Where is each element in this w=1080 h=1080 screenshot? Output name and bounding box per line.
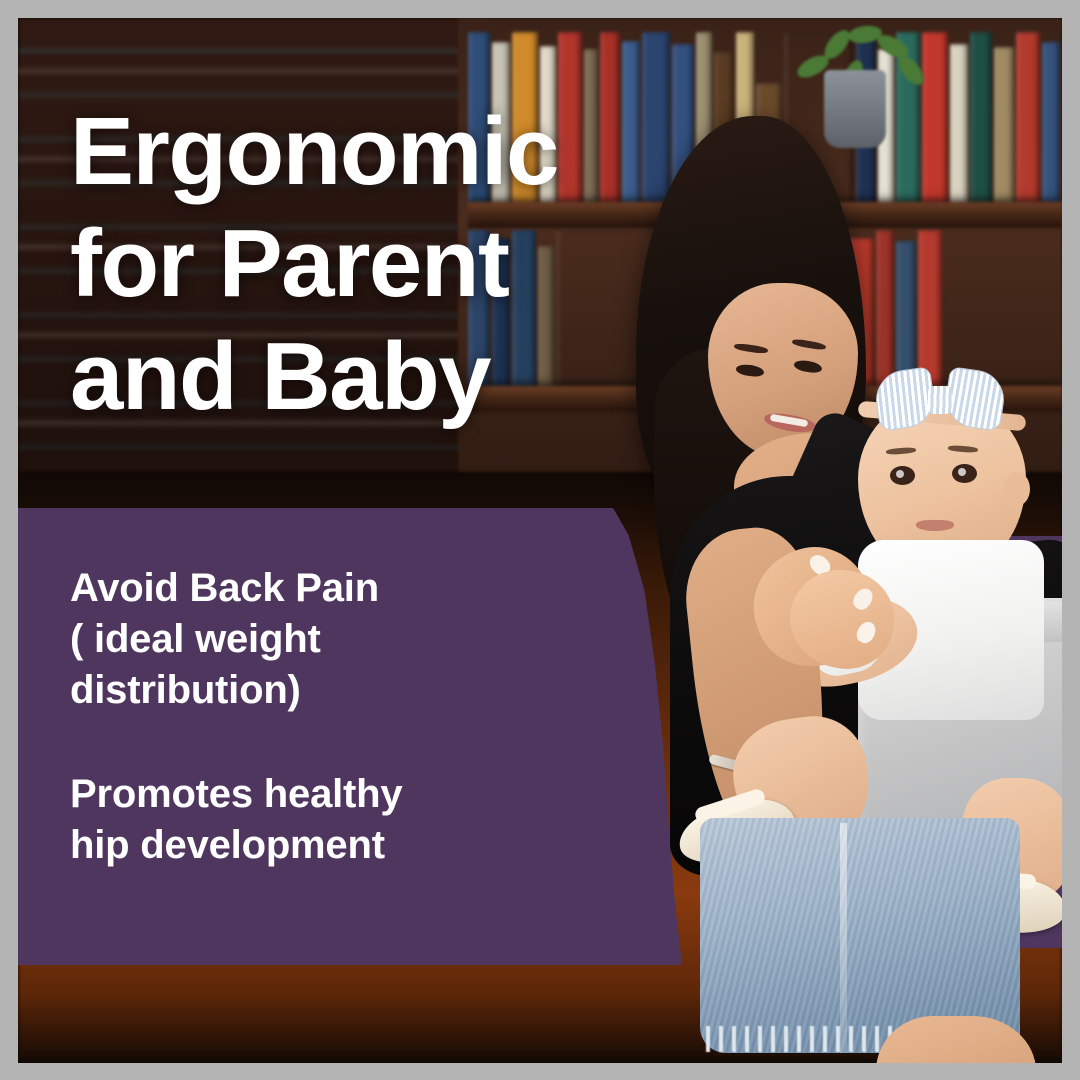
poster-card: Ergonomic for Parent and Baby Avoid Back… [18,18,1062,1063]
baby-eyebrow [948,445,978,453]
bow-knot [928,386,952,414]
bow-loop-right [942,366,1008,432]
poster-canvas: Ergonomic for Parent and Baby Avoid Back… [0,0,1080,1080]
baby-eye [952,464,977,483]
mother-eyebrow [792,338,827,351]
page-title: Ergonomic for Parent and Baby [70,96,690,433]
baby-bow [876,370,1004,430]
baby-eyebrow [886,447,916,455]
fingernail [850,585,876,613]
benefit-item-healthy-hip-development: Promotes healthy hip development [70,769,570,871]
baby-eye [890,466,915,485]
baby-ear [1004,472,1030,506]
mother-eyebrow [734,343,769,355]
shorts-seam [840,823,847,1053]
mother-eye [735,363,764,378]
benefits-list: Avoid Back Pain ( ideal weight distribut… [70,563,570,871]
baby-mouth [916,520,954,531]
mother-eye [793,359,822,375]
fingernail [854,619,879,646]
benefit-item-avoid-back-pain: Avoid Back Pain ( ideal weight distribut… [70,563,570,715]
